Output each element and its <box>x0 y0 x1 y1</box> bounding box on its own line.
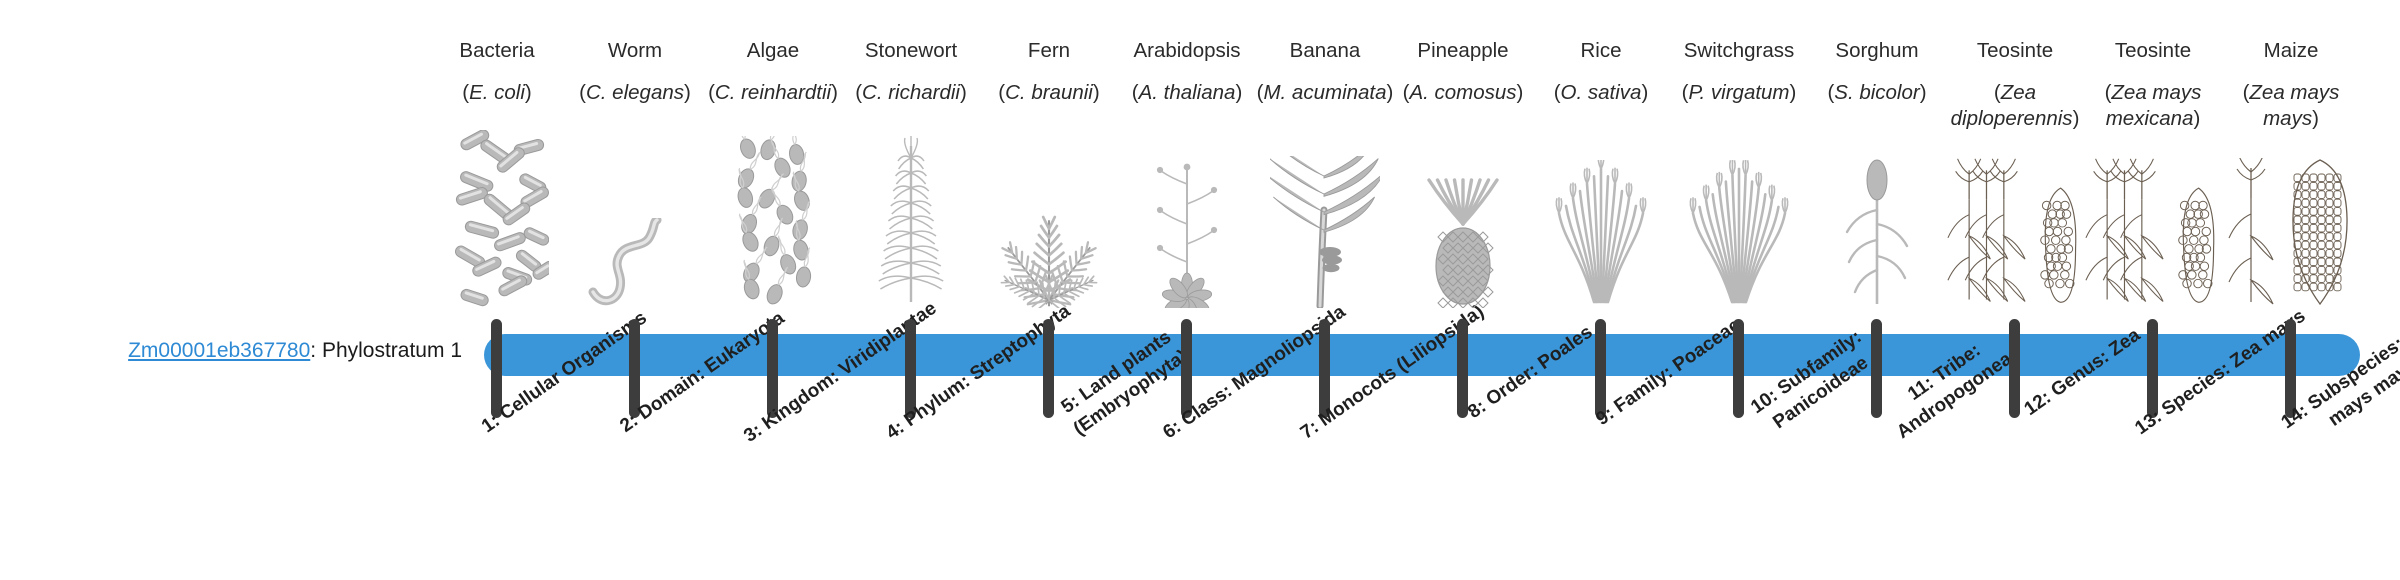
species-common-name: Arabidopsis <box>1118 38 1256 64</box>
phylostratum-label: 14: Subspecies: Zea mays mays <box>2257 296 2400 469</box>
species-column: Worm(C. elegans) 2: Domain: Eukaryota <box>566 0 704 580</box>
species-name-block: Banana(M. acuminata) <box>1256 38 1394 106</box>
species-scientific-name: (S. bicolor) <box>1808 80 1946 106</box>
sorghum-illustration <box>1808 168 1946 308</box>
species-common-name: Stonewort <box>842 38 980 64</box>
species-scientific-name: (A. comosus) <box>1394 80 1532 106</box>
species-column: Stonewort(C. richardii) 4: Phylum: Strep… <box>842 0 980 580</box>
species-common-name: Switchgrass <box>1670 38 1808 64</box>
algae-illustration <box>704 168 842 308</box>
species-name-block: Pineapple(A. comosus) <box>1394 38 1532 106</box>
species-column: Teosinte(Zea diploperennis) 12: Genus: Z… <box>1946 0 2084 580</box>
gene-label-separator: : <box>310 339 322 362</box>
species-scientific-name: (O. sativa) <box>1532 80 1670 106</box>
species-common-name: Teosinte <box>2084 38 2222 64</box>
gene-id-link[interactable]: Zm00001eb367780 <box>128 339 310 362</box>
species-name-block: Stonewort(C. richardii) <box>842 38 980 106</box>
stonewort-illustration <box>842 168 980 308</box>
species-column: Rice(O. sativa) <box>1532 0 1670 580</box>
banana-illustration <box>1256 168 1394 308</box>
species-name-block: Worm(C. elegans) <box>566 38 704 106</box>
species-column: Sorghum(S. bicolor) 11: Tribe: Andropogo… <box>1808 0 1946 580</box>
fern-illustration <box>980 168 1118 308</box>
species-name-block: Teosinte(Zea diploperennis) <box>1946 38 2084 133</box>
species-name-block: Switchgrass(P. virgatum) <box>1670 38 1808 106</box>
species-scientific-name: (P. virgatum) <box>1670 80 1808 106</box>
species-scientific-name: (C. elegans) <box>566 80 704 106</box>
species-scientific-name: (M. acuminata) <box>1256 80 1394 106</box>
teosinte-diploperennis-illustration <box>1946 168 2084 308</box>
rice-illustration <box>1532 168 1670 308</box>
species-common-name: Fern <box>980 38 1118 64</box>
worm-illustration <box>566 168 704 308</box>
species-scientific-name: (A. thaliana) <box>1118 80 1256 106</box>
species-scientific-name: (E. coli) <box>428 80 566 106</box>
species-common-name: Teosinte <box>1946 38 2084 64</box>
species-column: Bacteria(E. coli) <box>428 0 566 580</box>
species-scientific-name: (C. reinhardtii) <box>704 80 842 106</box>
bacteria-illustration <box>428 168 566 308</box>
species-name-block: Fern(C. braunii) <box>980 38 1118 106</box>
species-name-block: Sorghum(S. bicolor) <box>1808 38 1946 106</box>
species-column: Maize(Zea mays mays) 14: Subspecies: Zea… <box>2222 0 2360 580</box>
gene-phylostratum-label: Zm00001eb367780: Phylostratum 1 <box>10 338 462 363</box>
species-common-name: Pineapple <box>1394 38 1532 64</box>
species-column: Teosinte(Zea mays mexicana) 13: Species:… <box>2084 0 2222 580</box>
species-column: Arabidopsis(A. thaliana) 6: Class: Magno… <box>1118 0 1256 580</box>
pineapple-illustration <box>1394 168 1532 308</box>
species-common-name: Worm <box>566 38 704 64</box>
species-name-block: Algae(C. reinhardtii) <box>704 38 842 106</box>
species-column: Fern(C. braunii) 5: Land plants (Embryop… <box>980 0 1118 580</box>
species-common-name: Bacteria <box>428 38 566 64</box>
species-name-block: Maize(Zea mays mays) <box>2222 38 2360 133</box>
species-common-name: Algae <box>704 38 842 64</box>
species-column: Banana(M. acuminata) 7: Monocots (Liliop… <box>1256 0 1394 580</box>
species-common-name: Sorghum <box>1808 38 1946 64</box>
species-scientific-name: (C. braunii) <box>980 80 1118 106</box>
species-columns: Bacteria(E. coli) <box>428 0 2363 580</box>
species-name-block: Rice(O. sativa) <box>1532 38 1670 106</box>
species-column: Pineapple(A. comosus) 8: Order: Poales <box>1394 0 1532 580</box>
arabidopsis-illustration <box>1118 168 1256 308</box>
species-name-block: Bacteria(E. coli) <box>428 38 566 106</box>
species-column: Algae(C. reinhardtii) <box>704 0 842 580</box>
species-scientific-name: (Zea diploperennis) <box>1946 80 2084 132</box>
species-common-name: Maize <box>2222 38 2360 64</box>
maize-illustration <box>2222 168 2360 308</box>
phylostratigraphy-figure: Zm00001eb367780: Phylostratum 1 Bacteria… <box>0 0 2400 580</box>
teosinte-mexicana-illustration <box>2084 168 2222 308</box>
species-common-name: Rice <box>1532 38 1670 64</box>
species-name-block: Teosinte(Zea mays mexicana) <box>2084 38 2222 133</box>
species-scientific-name: (Zea mays mexicana) <box>2084 80 2222 132</box>
species-name-block: Arabidopsis(A. thaliana) <box>1118 38 1256 106</box>
species-scientific-name: (C. richardii) <box>842 80 980 106</box>
species-column: Switchgrass(P. virgatum) <box>1670 0 1808 580</box>
species-scientific-name: (Zea mays mays) <box>2222 80 2360 132</box>
switchgrass-illustration <box>1670 168 1808 308</box>
species-common-name: Banana <box>1256 38 1394 64</box>
